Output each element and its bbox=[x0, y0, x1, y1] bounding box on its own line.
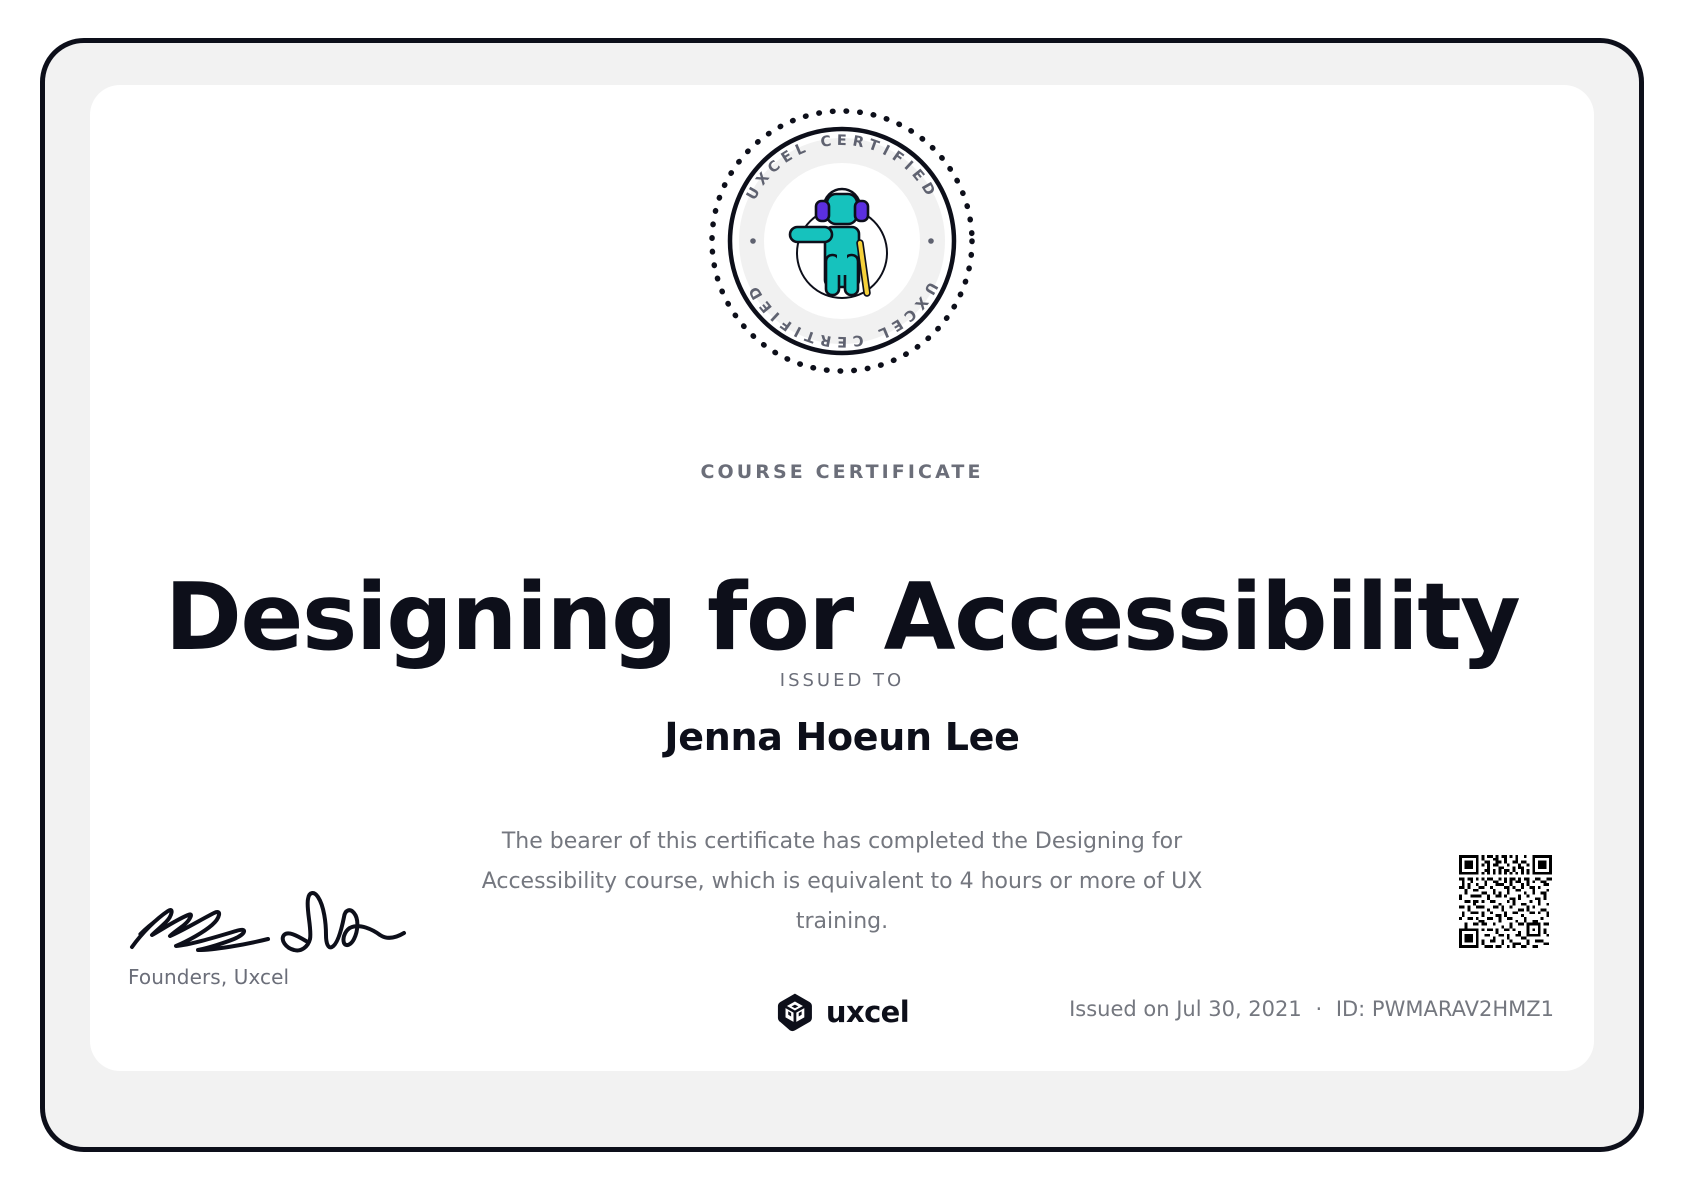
handwritten-signature-icon bbox=[128, 875, 418, 955]
seal-ring-dot-a bbox=[750, 238, 756, 244]
uxcel-hexagon-cube-logo-icon bbox=[775, 992, 815, 1032]
qr-code[interactable] bbox=[1459, 855, 1552, 948]
certificate-description: The bearer of this certificate has compl… bbox=[462, 822, 1222, 942]
certificate-card: UXCEL CERTIFIED UXCEL CERTIFIED bbox=[90, 85, 1594, 1071]
seal-ring-dot-b bbox=[928, 238, 934, 244]
signature-block: Founders, Uxcel bbox=[128, 875, 458, 989]
course-title: Designing for Accessibility bbox=[90, 562, 1594, 672]
qr-code-icon bbox=[1459, 855, 1552, 948]
uxcel-brand-logo: uxcel bbox=[775, 992, 909, 1032]
seal-svg: UXCEL CERTIFIED UXCEL CERTIFIED bbox=[706, 105, 978, 377]
description-line-2: course, which is equivalent to 4 hours o… bbox=[624, 869, 1202, 934]
certificate-frame: UXCEL CERTIFIED UXCEL CERTIFIED bbox=[40, 38, 1644, 1152]
course-certificate-kicker: COURSE CERTIFICATE bbox=[90, 461, 1594, 483]
meta-separator: · bbox=[1308, 997, 1329, 1021]
signature-caption: Founders, Uxcel bbox=[128, 965, 458, 989]
uxcel-wordmark: uxcel bbox=[826, 995, 909, 1029]
issued-on-text: Issued on Jul 30, 2021 bbox=[1069, 997, 1302, 1021]
uxcel-certified-seal: UXCEL CERTIFIED UXCEL CERTIFIED bbox=[706, 105, 978, 377]
issued-to-label: ISSUED TO bbox=[90, 670, 1594, 691]
badge-container: UXCEL CERTIFIED UXCEL CERTIFIED bbox=[90, 105, 1594, 377]
certificate-id-text: ID: PWMARAV2HMZ1 bbox=[1336, 997, 1554, 1021]
issue-meta: Issued on Jul 30, 2021 · ID: PWMARAV2HMZ… bbox=[1069, 997, 1554, 1021]
recipient-name: Jenna Hoeun Lee bbox=[90, 715, 1594, 759]
